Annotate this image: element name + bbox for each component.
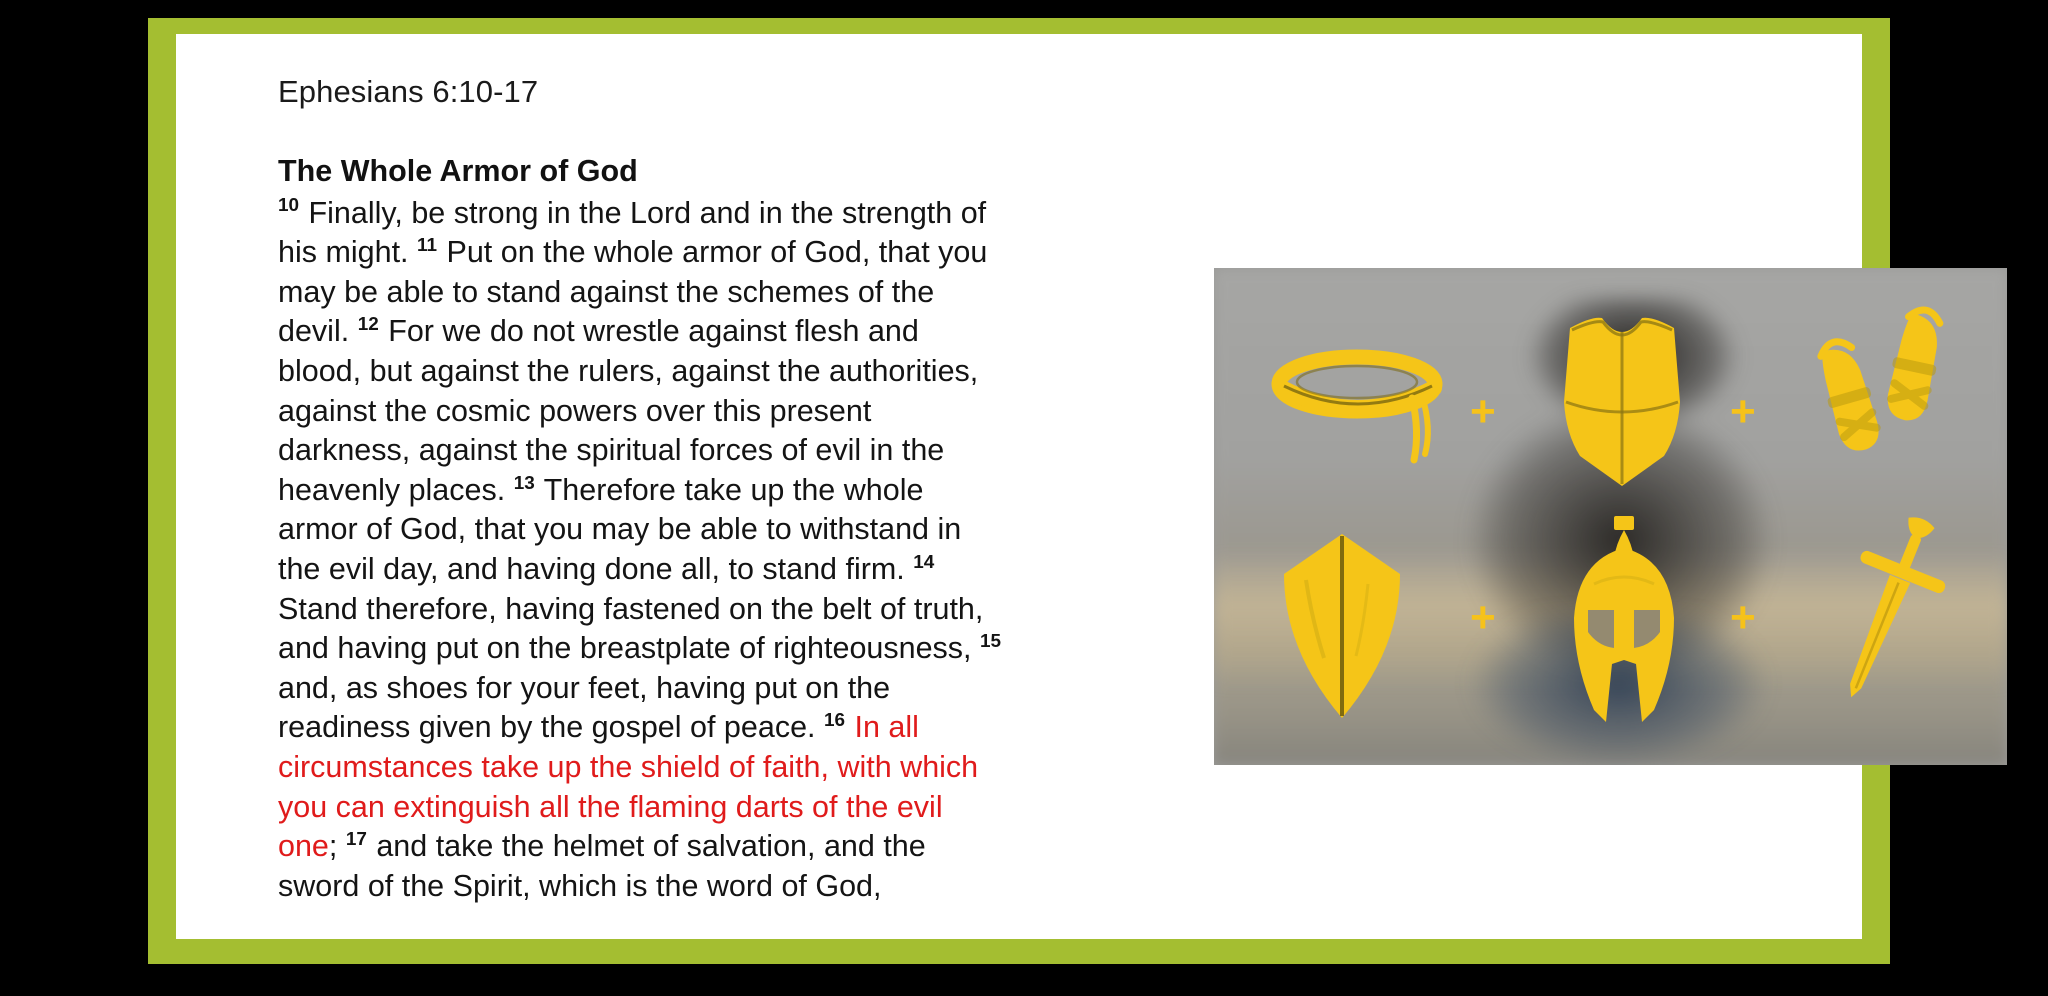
armor-of-god-image: + +: [1214, 268, 2007, 765]
verse-text: and, as shoes for your feet, having put …: [278, 671, 890, 745]
verse-number: 14: [913, 552, 935, 573]
verse-number: 15: [980, 631, 1002, 652]
sword-of-the-spirit-icon: [1806, 506, 1971, 721]
passage-heading: The Whole Armor of God: [278, 152, 1008, 192]
verse-text: and take the helmet of salvation, and th…: [278, 829, 926, 903]
shield-of-faith-icon: [1272, 528, 1412, 728]
shoes-of-peace-icon: [1800, 286, 1965, 471]
verse-text: Stand therefore, having fastened on the …: [278, 592, 983, 666]
slide-canvas: Ephesians 6:10-17 The Whole Armor of God…: [176, 34, 1862, 939]
verse-number: 13: [514, 473, 536, 494]
plus-separator-icon-4: +: [1730, 596, 1756, 640]
slide-stage: Ephesians 6:10-17 The Whole Armor of God…: [0, 0, 2048, 996]
plus-separator-icon-3: +: [1470, 596, 1496, 640]
verse-number: 17: [346, 829, 368, 850]
slide-green-frame: Ephesians 6:10-17 The Whole Armor of God…: [148, 18, 1890, 964]
verse-number: 12: [358, 314, 380, 335]
scripture-text-block: The Whole Armor of God 10 Finally, be st…: [278, 152, 1008, 906]
verse-number: 16: [824, 710, 846, 731]
helmet-of-salvation-icon: [1554, 514, 1694, 729]
belt-of-truth-icon: [1262, 336, 1462, 476]
verse-number: 10: [278, 195, 300, 216]
plus-separator-icon-1: +: [1470, 390, 1496, 434]
passage-body: 10 Finally, be strong in the Lord and in…: [278, 194, 1008, 907]
plus-separator-icon-2: +: [1730, 390, 1756, 434]
breastplate-of-righteousness-icon: [1552, 306, 1692, 491]
verse-number: 11: [417, 235, 438, 256]
scripture-reference: Ephesians 6:10-17: [278, 74, 538, 110]
